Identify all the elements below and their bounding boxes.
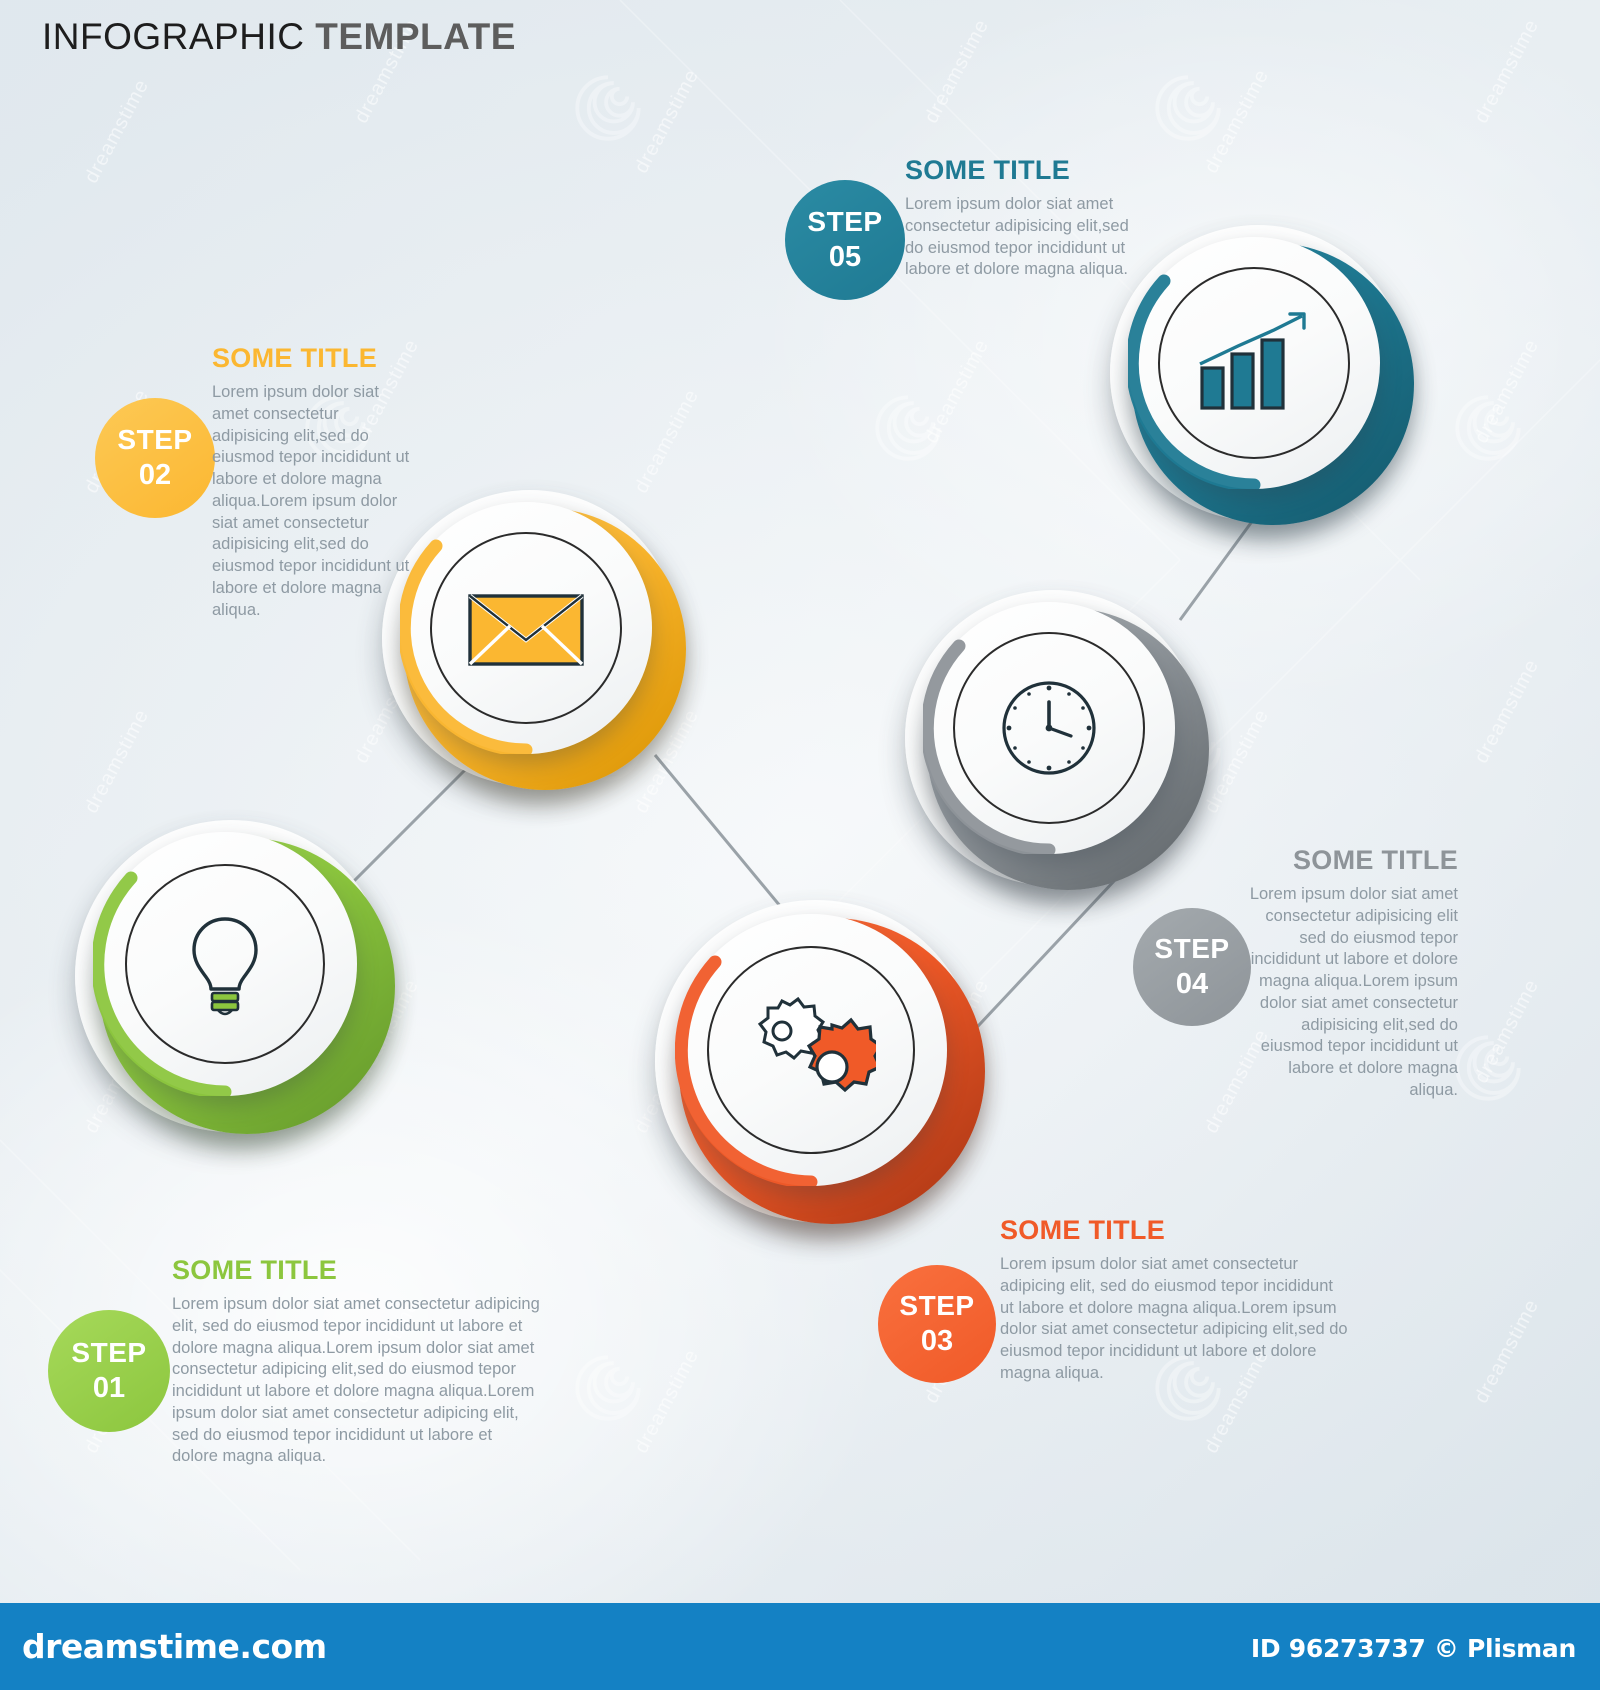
step-badge-word: STEP — [807, 208, 882, 236]
step-badge-word: STEP — [899, 1292, 974, 1320]
step-badge-word: STEP — [117, 426, 192, 454]
step-badge-number: 03 — [921, 1327, 953, 1356]
gears-icon — [741, 984, 883, 1118]
step-body-05: Lorem ipsum dolor siat amet consectetur … — [905, 194, 1135, 281]
node-step-01[interactable] — [75, 820, 405, 1140]
page-title-part1: INFOGRAPHIC — [42, 16, 315, 57]
step-text-05: SOME TITLE Lorem ipsum dolor siat amet c… — [905, 155, 1135, 281]
spiral-watermark-icon — [560, 1340, 656, 1436]
node-step-05[interactable] — [1110, 225, 1420, 525]
node-step-02[interactable] — [382, 490, 692, 790]
spiral-watermark-icon — [1440, 380, 1536, 476]
spiral-watermark-icon — [560, 60, 656, 156]
envelope-icon — [458, 572, 594, 684]
step-body-03: Lorem ipsum dolor siat amet consectetur … — [1000, 1254, 1348, 1385]
step-badge-word: STEP — [71, 1339, 146, 1367]
spiral-watermark-icon — [1140, 60, 1236, 156]
page-title-part2: TEMPLATE — [315, 16, 516, 57]
step-badge-05[interactable]: STEP 05 — [785, 180, 905, 300]
node-step-03[interactable] — [655, 900, 995, 1230]
step-body-04: Lorem ipsum dolor siat amet consectetur … — [1240, 884, 1458, 1102]
step-body-02: Lorem ipsum dolor siat amet consectetur … — [212, 382, 417, 621]
step-badge-number: 05 — [829, 243, 861, 272]
footer-bar: dreamstime.com ID 96273737 © Plisman — [0, 1603, 1600, 1690]
step-badge-word: STEP — [1154, 935, 1229, 963]
spiral-watermark-icon — [860, 380, 956, 476]
lightbulb-icon — [179, 906, 271, 1024]
step-title-04: SOME TITLE — [1240, 845, 1458, 876]
step-badge-04[interactable]: STEP 04 — [1133, 908, 1251, 1026]
step-badge-03[interactable]: STEP 03 — [878, 1265, 996, 1383]
step-badge-02[interactable]: STEP 02 — [95, 398, 215, 518]
step-badge-number: 04 — [1176, 970, 1208, 999]
bar-chart-icon — [1186, 297, 1322, 429]
page-title: INFOGRAPHIC TEMPLATE — [42, 16, 516, 58]
image-credit: ID 96273737 © Plisman — [1251, 1634, 1576, 1663]
infographic-canvas: dreamstime dreamstime dreamstime dreamst… — [0, 0, 1600, 1690]
step-badge-number: 01 — [93, 1374, 125, 1403]
step-text-03: SOME TITLE Lorem ipsum dolor siat amet c… — [1000, 1215, 1348, 1385]
node-step-04[interactable] — [905, 590, 1215, 890]
dreamstime-logo[interactable]: dreamstime.com — [22, 1627, 327, 1666]
step-title-03: SOME TITLE — [1000, 1215, 1348, 1246]
step-text-02: SOME TITLE Lorem ipsum dolor siat amet c… — [212, 343, 417, 621]
step-badge-number: 02 — [139, 461, 171, 490]
clock-icon — [989, 668, 1109, 788]
step-title-01: SOME TITLE — [172, 1255, 540, 1286]
step-text-04: SOME TITLE Lorem ipsum dolor siat amet c… — [1240, 845, 1458, 1102]
step-body-01: Lorem ipsum dolor siat amet consectetur … — [172, 1294, 540, 1468]
step-text-01: SOME TITLE Lorem ipsum dolor siat amet c… — [172, 1255, 540, 1468]
step-title-05: SOME TITLE — [905, 155, 1135, 186]
step-title-02: SOME TITLE — [212, 343, 417, 374]
step-badge-01[interactable]: STEP 01 — [48, 1310, 170, 1432]
